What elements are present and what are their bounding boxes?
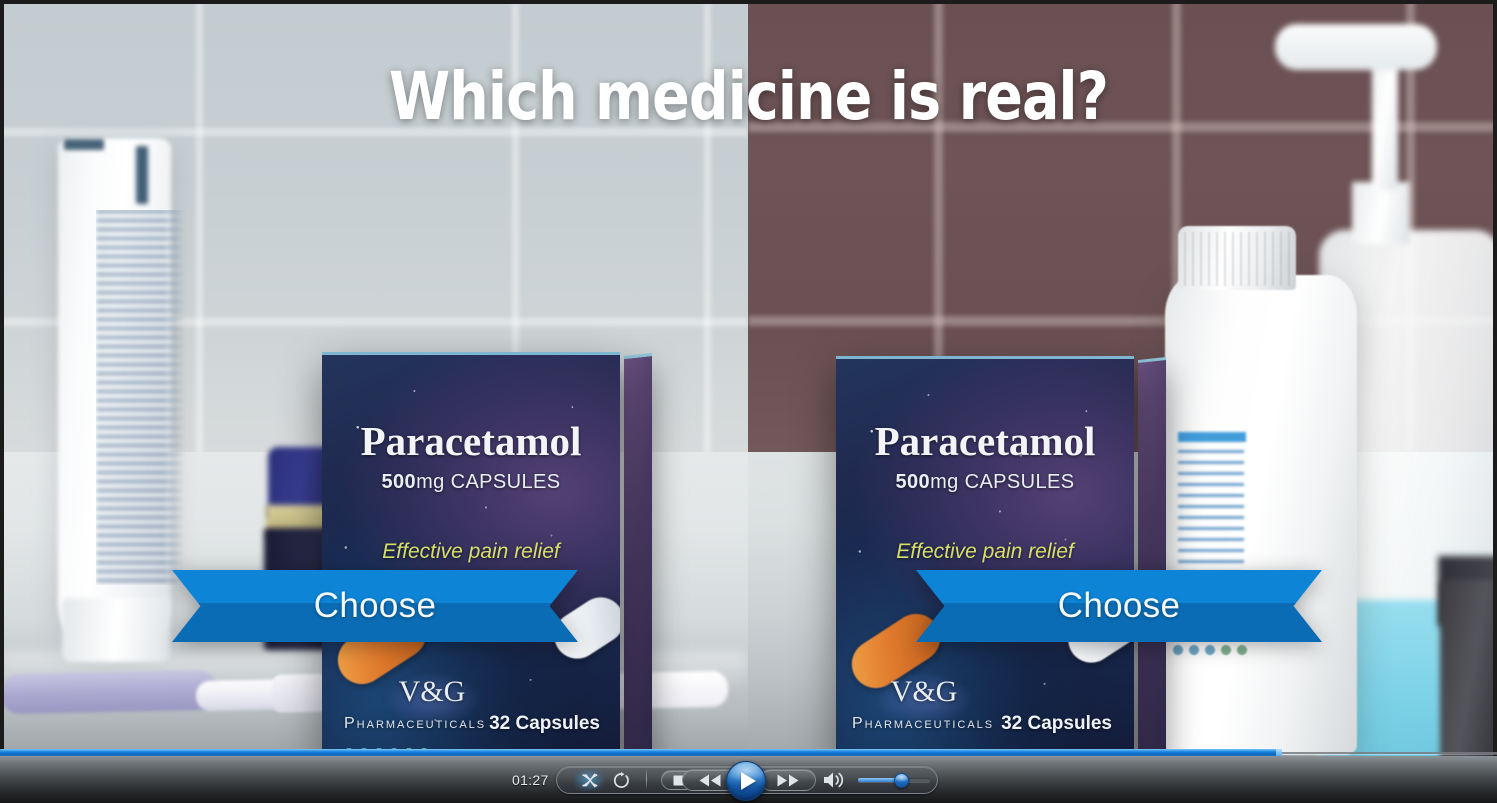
right-product-quantity: 32 Capsules (1001, 713, 1112, 735)
video-frame[interactable]: Paracetamol 500mg CAPSULES Effective pai… (0, 0, 1497, 803)
repeat-button[interactable] (608, 769, 634, 791)
right-product-name: Paracetamol (836, 417, 1134, 465)
left-product-dosage: 500mg CAPSULES (322, 471, 620, 494)
choose-button-left[interactable]: Choose (172, 570, 578, 642)
choose-button-left-label: Choose (172, 570, 578, 642)
right-product-dosage: 500mg CAPSULES (836, 471, 1134, 494)
controls-divider (646, 768, 647, 790)
shuffle-button[interactable] (574, 769, 604, 791)
toothpaste-tube-cap (62, 598, 170, 662)
left-medicine-box-side (624, 353, 652, 760)
pill-bottle-dots (1172, 644, 1256, 656)
right-product-tagline: Effective pain relief (836, 540, 1134, 564)
right-medicine-box[interactable]: Paracetamol 500mg CAPSULES Effective pai… (836, 356, 1134, 760)
soap-dispenser-neck (1352, 182, 1410, 244)
toothpaste-tube-label (96, 210, 186, 585)
left-dosage-amount: 500 (381, 471, 416, 493)
video-player: Paracetamol 500mg CAPSULES Effective pai… (0, 0, 1497, 803)
pill-bottle-label-bar (1178, 432, 1246, 442)
current-time-label: 01:27 (512, 772, 549, 788)
volume-slider[interactable] (858, 771, 930, 789)
right-dosage-amount: 500 (895, 471, 930, 493)
video-title-overlay: Which medicine is real? (120, 58, 1377, 135)
choose-button-right[interactable]: Choose (916, 570, 1322, 642)
right-medicine-box-side (1138, 357, 1166, 764)
left-product-name: Paracetamol (322, 417, 620, 465)
right-brand-subtitle: Pharmaceuticals (852, 715, 994, 733)
left-product-tagline: Effective pain relief (322, 540, 620, 564)
toothpaste-tube-seal (64, 139, 104, 150)
play-icon (741, 772, 756, 790)
right-dosage-form: mg CAPSULES (930, 471, 1074, 493)
shuffle-icon (581, 773, 598, 788)
right-brand-logo: V&G (876, 675, 972, 709)
toothbrush-handle (0, 670, 218, 715)
volume-slider-knob[interactable] (894, 773, 909, 788)
repeat-icon (613, 772, 630, 789)
volume-button[interactable] (818, 769, 852, 791)
fast-forward-icon (776, 774, 800, 787)
left-brand-subtitle: Pharmaceuticals (344, 715, 486, 733)
toothpaste-tube-stripe (136, 146, 148, 204)
fast-forward-button[interactable] (760, 769, 816, 791)
choose-button-right-label: Choose (916, 570, 1322, 642)
left-brand-logo: V&G (384, 675, 480, 709)
left-dosage-form: mg CAPSULES (416, 471, 560, 493)
left-product-quantity: 32 Capsules (489, 713, 600, 735)
play-button[interactable] (726, 761, 766, 801)
left-medicine-box[interactable]: Paracetamol 500mg CAPSULES Effective pai… (322, 352, 620, 756)
volume-icon (823, 771, 847, 789)
rewind-icon (698, 774, 722, 787)
pill-bottle-cap (1178, 226, 1296, 290)
